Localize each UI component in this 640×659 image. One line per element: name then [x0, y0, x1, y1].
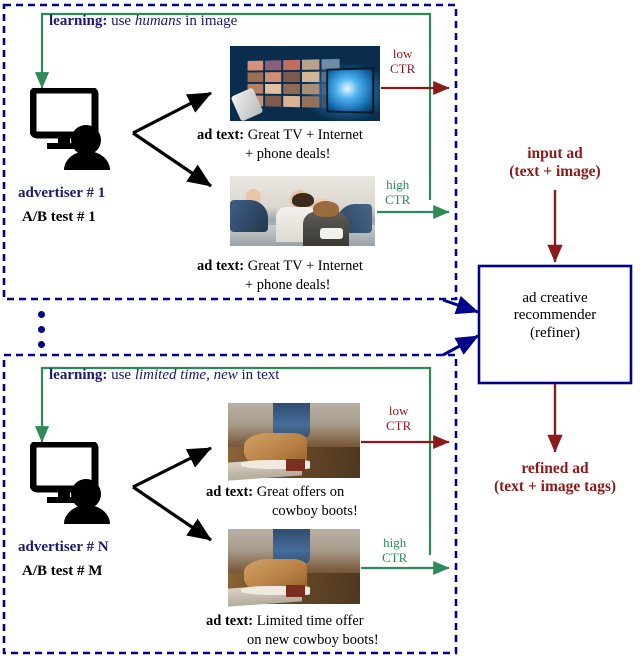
high-ctr-label-bottom: high CTR	[382, 536, 407, 566]
learning-label-bottom: learning: use limited time, new in text	[49, 367, 279, 384]
input-ad-line1: input ad	[479, 145, 631, 163]
ctr-line2: CTR	[386, 419, 411, 434]
monitor-person-icon	[30, 88, 122, 170]
ad-text-bottom-variant-b: ad text: Limited time offer	[206, 613, 364, 630]
boot-heel-shape	[286, 585, 304, 597]
ctr-line2: CTR	[382, 551, 407, 566]
input-ad-line2: (text + image)	[479, 163, 631, 181]
variant-image-boot-b	[228, 529, 360, 604]
panel-top-to-recommender-arrow	[443, 300, 478, 312]
child-hair-shape	[313, 201, 339, 216]
variant-image-family	[230, 176, 375, 246]
refined-ad-line1: refined ad	[466, 460, 640, 478]
ad-text-line1: Limited time offer	[257, 613, 364, 629]
ellipsis-dot	[38, 311, 45, 318]
ellipsis-dot	[38, 326, 45, 333]
ctr-line1: low	[390, 47, 415, 62]
tablet-screen	[326, 68, 374, 115]
learning-emphasis: limited time, new	[135, 367, 238, 383]
ad-text-label: ad text:	[197, 258, 244, 274]
variant-image-boot-a	[228, 403, 360, 478]
ctr-line1: low	[386, 404, 411, 419]
monitor-person-icon	[30, 442, 122, 524]
ctr-line2: CTR	[385, 193, 410, 208]
ad-text-bottom-variant-a: ad text: Great offers on	[206, 484, 344, 501]
ad-text-line1: Great offers on	[257, 484, 345, 500]
fork-arrow-bottom-down	[133, 487, 211, 540]
refined-ad-line2: (text + image tags)	[466, 478, 640, 496]
recommender-line3: (refiner)	[479, 325, 631, 342]
learning-mid: use	[111, 367, 131, 383]
low-ctr-label-top: low CTR	[390, 47, 415, 77]
panel-bottom-to-recommender-arrow	[443, 336, 478, 355]
ad-text-top-variant-b-line2: + phone deals!	[245, 277, 331, 294]
diagram-canvas: learning: use humans in image advertiser…	[0, 0, 640, 659]
advertiser-label-top: advertiser # 1	[18, 185, 105, 202]
advertiser-icon-top	[30, 88, 122, 170]
recommender-label: ad creative recommender (refiner)	[479, 290, 631, 342]
ad-text-label: ad text:	[206, 613, 253, 629]
input-ad-label: input ad (text + image)	[479, 145, 631, 181]
ad-text-bottom-variant-b-line2: on new cowboy boots!	[247, 632, 379, 649]
high-ctr-label-top: high CTR	[385, 178, 410, 208]
recommender-line2: recommender	[479, 307, 631, 324]
ad-text-top-variant-a: ad text: Great TV + Internet	[197, 127, 363, 144]
refined-ad-label: refined ad (text + image tags)	[466, 460, 640, 496]
jeans-left-shape	[230, 200, 268, 232]
ad-text-line1: Great TV + Internet	[248, 258, 363, 274]
learning-emphasis: humans	[135, 13, 182, 29]
ad-text-bottom-variant-a-line2: cowboy boots!	[272, 503, 358, 520]
learning-suffix: in image	[185, 13, 237, 29]
advertiser-icon-bottom	[30, 442, 122, 524]
learning-mid: use	[111, 13, 131, 29]
fork-arrow-bottom-up	[133, 448, 211, 487]
ad-text-label: ad text:	[197, 127, 244, 143]
ad-text-top-variant-b: ad text: Great TV + Internet	[197, 258, 363, 275]
learning-prefix: learning:	[49, 13, 107, 29]
adult-hair-shape	[292, 193, 314, 207]
ad-text-top-variant-a-line2: + phone deals!	[245, 146, 331, 163]
ad-text-label: ad text:	[206, 484, 253, 500]
variant-image-tv	[230, 46, 380, 121]
ellipsis-dot	[38, 341, 45, 348]
learning-prefix: learning:	[49, 367, 107, 383]
learning-suffix: in text	[242, 367, 280, 383]
ctr-line1: high	[382, 536, 407, 551]
learning-label-top: learning: use humans in image	[49, 13, 237, 30]
advertiser-label-bottom: advertiser # N	[18, 539, 109, 556]
ab-test-label-top: A/B test # 1	[22, 209, 96, 226]
device-shape	[320, 228, 343, 239]
boot-heel-shape	[286, 459, 304, 471]
recommender-line1: ad creative	[479, 290, 631, 307]
ctr-line1: high	[385, 178, 410, 193]
ab-test-label-bottom: A/B test # M	[22, 563, 102, 580]
ad-text-line1: Great TV + Internet	[248, 127, 363, 143]
ctr-line2: CTR	[390, 62, 415, 77]
low-ctr-label-bottom: low CTR	[386, 404, 411, 434]
